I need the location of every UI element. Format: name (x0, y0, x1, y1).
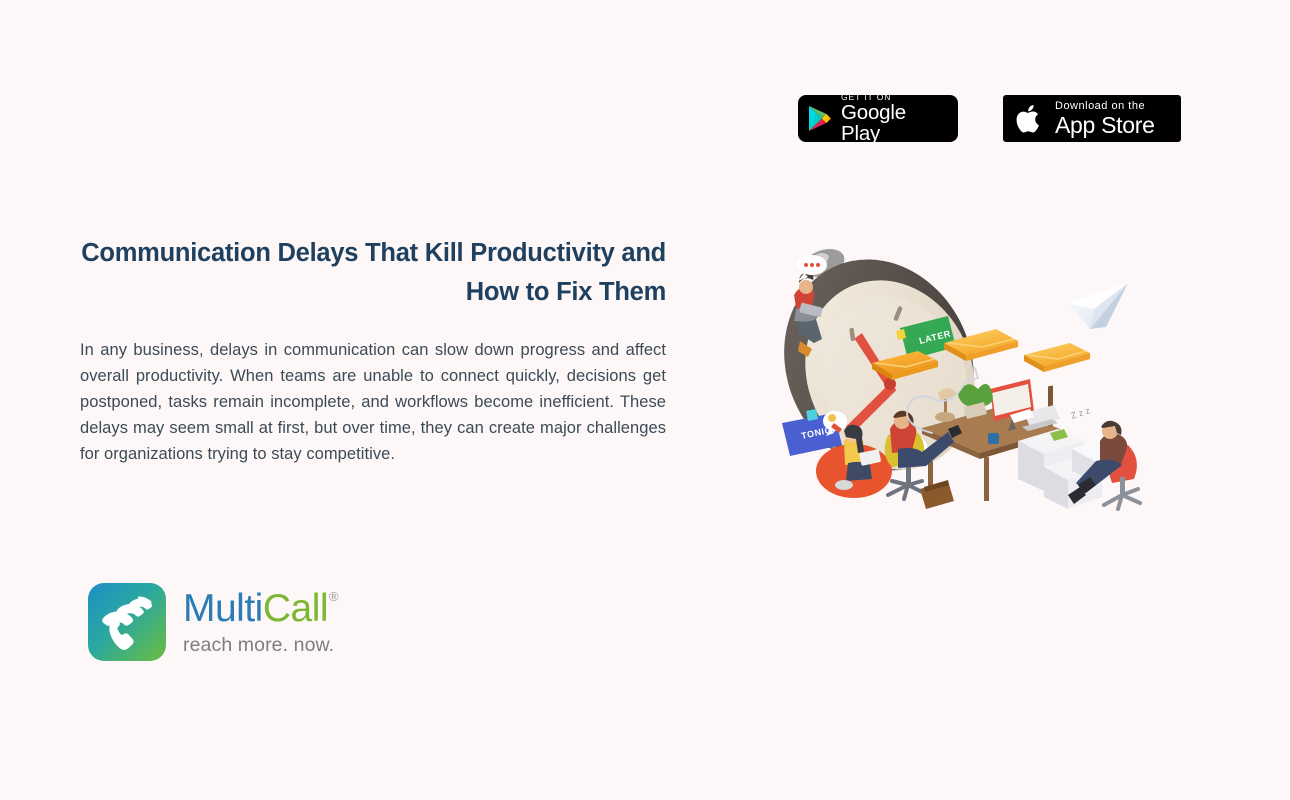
page-title: Communication Delays That Kill Productiv… (80, 234, 666, 312)
page-root: GET IT ON Google Play Download on the Ap… (0, 0, 1290, 800)
communication-delay-isometric-illustration: LATER TONIGHT (772, 243, 1172, 515)
paper-plane-icon (1068, 283, 1128, 329)
app-store-bottom-label: App Store (1055, 114, 1155, 137)
sleep-label: Z z z (1070, 405, 1092, 421)
multicall-wordmark: MultiCall® reach more. now. (183, 583, 337, 657)
google-play-bottom-label: Google Play (841, 103, 948, 144)
app-store-badge-text: Download on the App Store (1055, 101, 1155, 137)
apple-logo-icon (1016, 102, 1044, 135)
google-play-top-label: GET IT ON (841, 93, 948, 102)
google-play-triangle-icon (808, 105, 832, 132)
article-body-paragraph: In any business, delays in communication… (80, 337, 666, 467)
envelope-3 (1024, 343, 1090, 372)
multicall-phone-handsets-icon (88, 583, 166, 661)
multicall-name-multi: Multi (183, 587, 263, 630)
multicall-name: MultiCall® (183, 587, 337, 630)
google-play-badge[interactable]: GET IT ON Google Play (798, 95, 958, 142)
store-badge-group: GET IT ON Google Play Download on the Ap… (798, 95, 1181, 142)
app-store-badge[interactable]: Download on the App Store (1003, 95, 1181, 142)
google-play-badge-text: GET IT ON Google Play (841, 93, 948, 145)
registered-trademark-icon: ® (329, 589, 338, 604)
multicall-logo[interactable]: MultiCall® reach more. now. (88, 583, 337, 661)
app-store-top-label: Download on the (1055, 101, 1155, 112)
multicall-name-call: Call (263, 587, 328, 630)
multicall-tagline: reach more. now. (183, 634, 337, 657)
article-text-block: Communication Delays That Kill Productiv… (80, 234, 666, 467)
